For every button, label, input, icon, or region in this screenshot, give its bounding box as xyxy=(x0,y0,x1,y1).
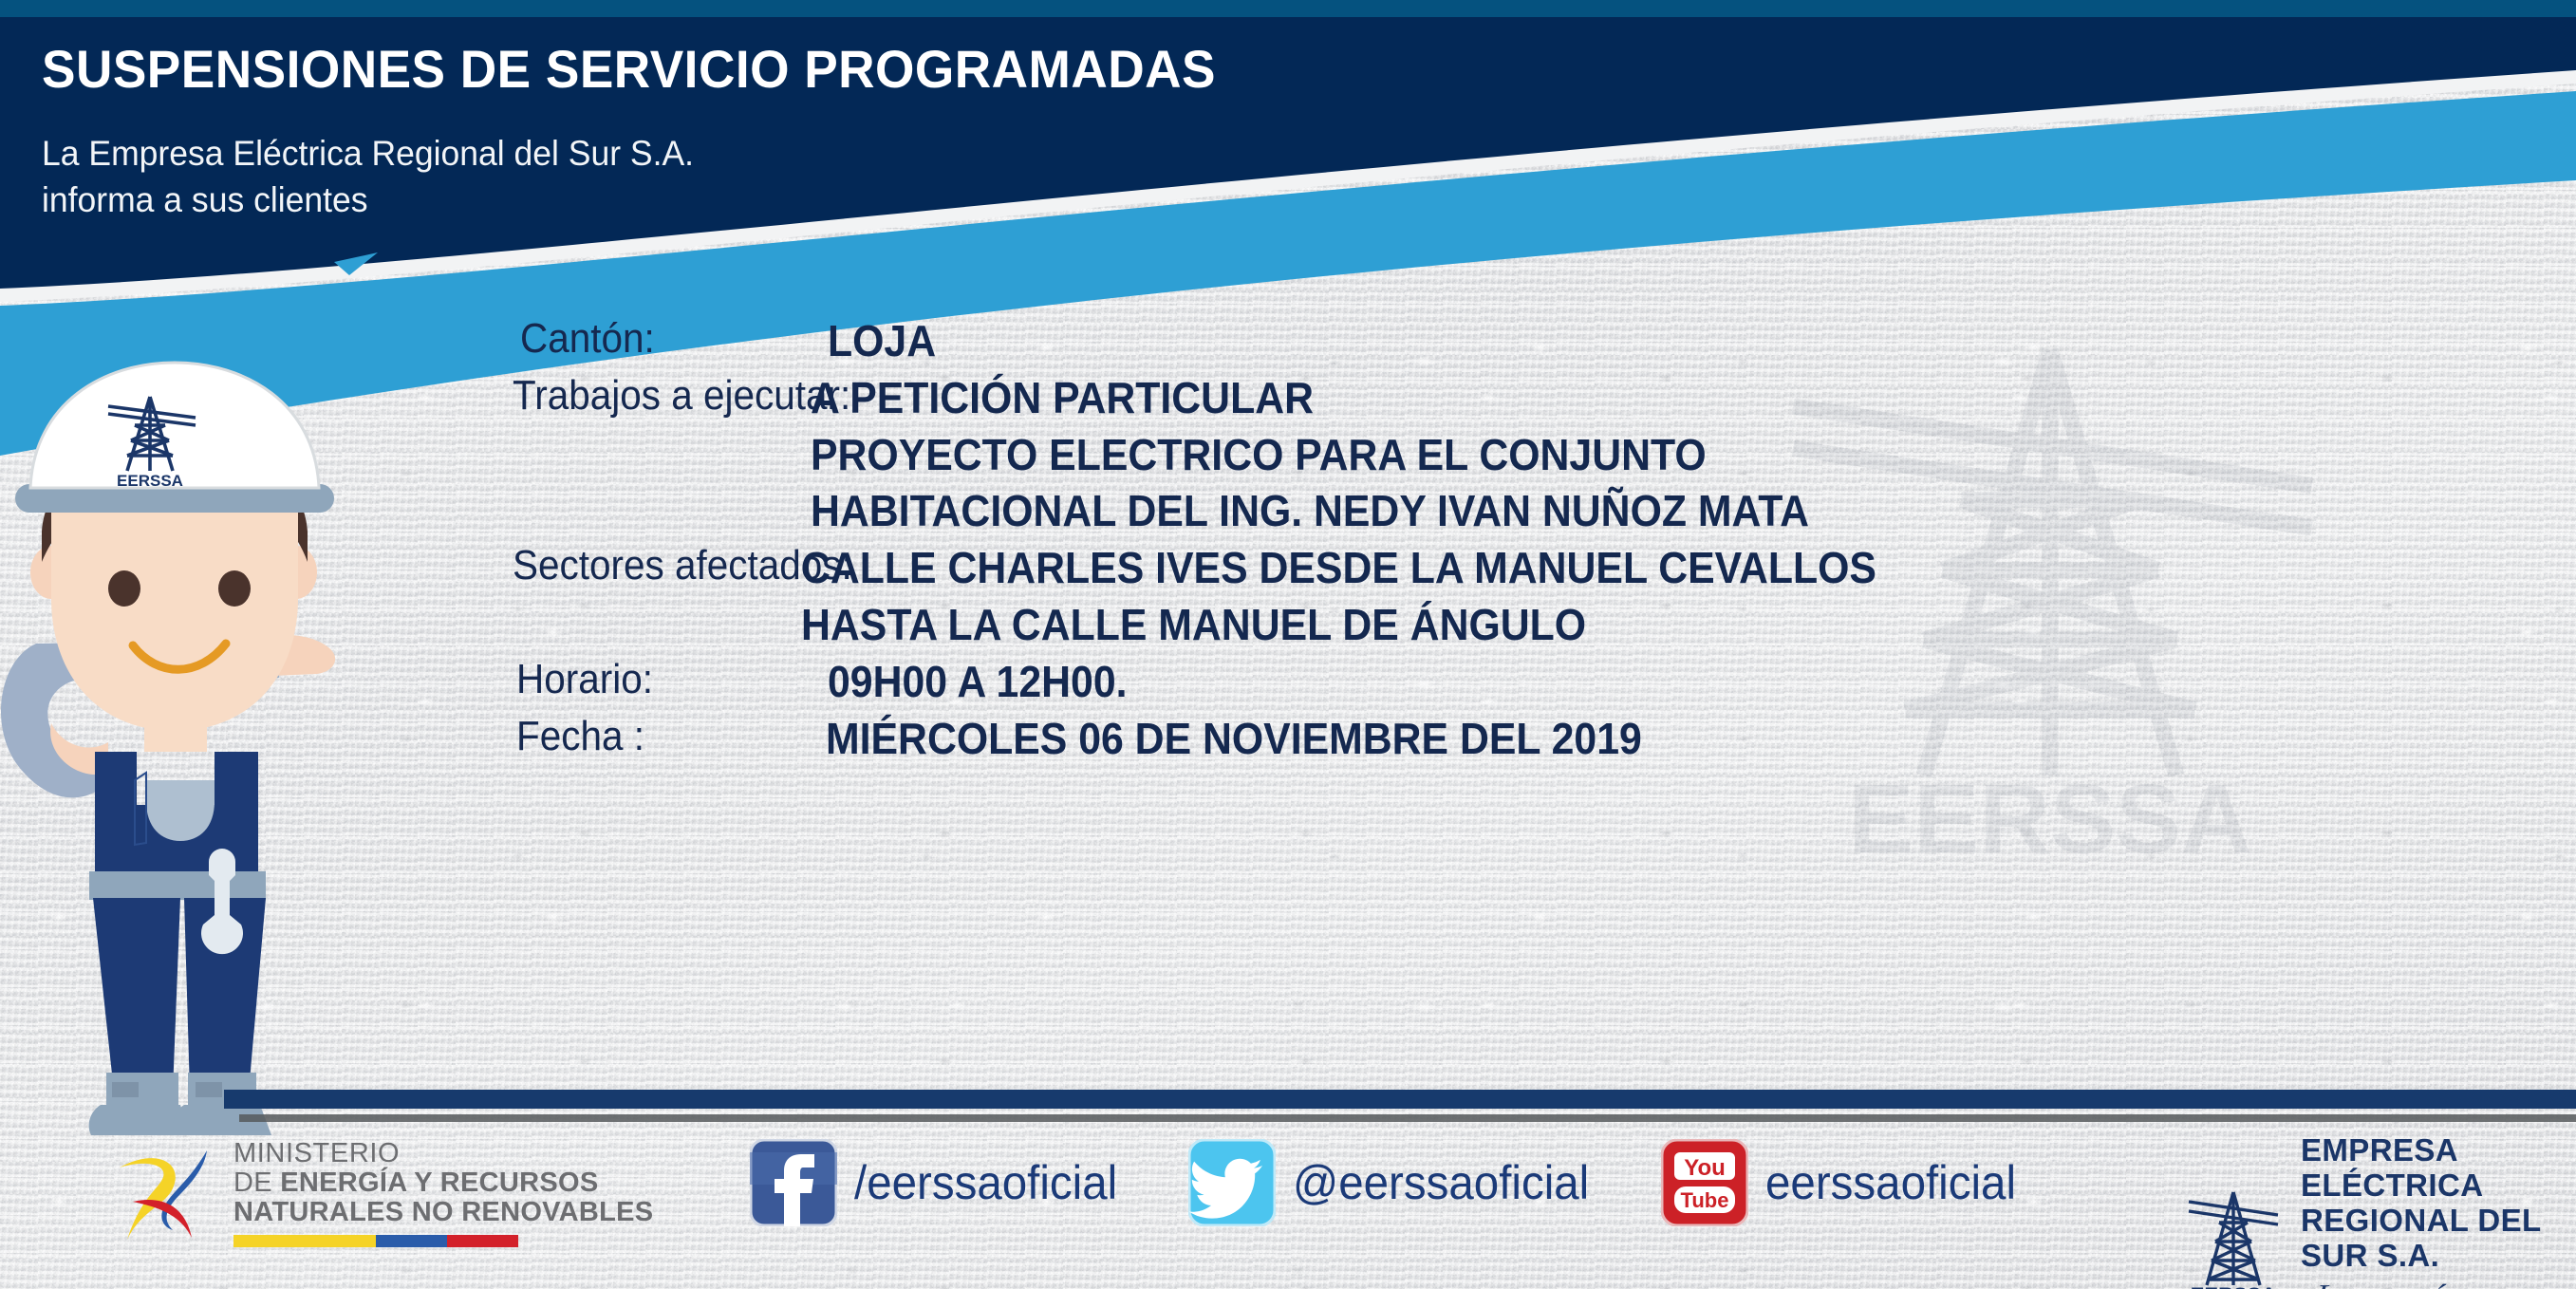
social-links: /eerssaoficial @eerssaoficial You xyxy=(750,1139,2086,1226)
service-suspension-poster: EERSSA SUSPENSIONES DE SERVICIO PROGRAMA… xyxy=(0,0,2576,1289)
label-fecha: Fecha : xyxy=(516,711,752,763)
svg-text:Tube: Tube xyxy=(1681,1188,1729,1212)
eerssa-logo-block: EERSSA EMPRESA ELÉCTRICA REGIONAL DEL SU… xyxy=(2183,1133,2576,1289)
footer-divider xyxy=(224,1082,2576,1122)
row-sectores: Sectores afectados: CALLE CHARLES IVES D… xyxy=(513,540,2544,654)
value-horario: 09H00 A 12H00. xyxy=(828,654,1128,711)
ministerio-text: MINISTERIO DE ENERGÍA Y RECURSOS NATURAL… xyxy=(233,1139,653,1246)
eerssa-line-2: REGIONAL DEL SUR S.A. xyxy=(2301,1204,2576,1274)
trabajos-line-2: PROYECTO ELECTRICO PARA EL CONJUNTO xyxy=(811,427,1809,484)
ministerio-line-1: MINISTERIO xyxy=(233,1139,653,1168)
divider-shadow xyxy=(239,1114,2576,1122)
eerssa-slogan: ¡La energía somos todos! xyxy=(2297,1278,2576,1289)
row-horario: Horario: 09H00 A 12H00. xyxy=(513,654,2544,711)
page-title: SUSPENSIONES DE SERVICIO PROGRAMADAS xyxy=(42,38,1216,100)
page-subtitle: La Empresa Eléctrica Regional del Sur S.… xyxy=(42,131,694,224)
twitter-handle[interactable]: @eerssaoficial xyxy=(1293,1155,1589,1210)
info-table: Cantón: LOJA Trabajos a ejecutar: A PETI… xyxy=(513,313,2544,767)
label-canton: Cantón: xyxy=(520,313,756,365)
footer: MINISTERIO DE ENERGÍA Y RECURSOS NATURAL… xyxy=(0,1126,2576,1289)
youtube-handle[interactable]: eerssaoficial xyxy=(1765,1155,2016,1210)
social-item-twitter[interactable]: @eerssaoficial xyxy=(1188,1139,1605,1226)
svg-text:EERSSA: EERSSA xyxy=(1848,763,2251,873)
ecuador-flag-bar xyxy=(233,1235,518,1247)
trabajos-line-1: A PETICIÓN PARTICULAR xyxy=(811,370,1809,427)
eerssa-tower-icon: EERSSA xyxy=(2183,1179,2284,1289)
label-sectores: Sectores afectados: xyxy=(513,540,748,592)
ministerio-line-2-light: DE xyxy=(233,1168,280,1198)
divider-bar xyxy=(224,1090,2576,1109)
worker-mascot-illustration: EERSSA xyxy=(0,359,402,1147)
subtitle-line-2: informa a sus clientes xyxy=(42,177,694,224)
eerssa-line-1: EMPRESA ELÉCTRICA xyxy=(2301,1133,2576,1204)
ecuador-ministry-icon xyxy=(112,1135,218,1251)
value-canton: LOJA xyxy=(828,313,936,370)
ministerio-line-2: DE ENERGÍA Y RECURSOS xyxy=(233,1168,653,1198)
facebook-handle[interactable]: /eerssaoficial xyxy=(854,1155,1117,1210)
row-fecha: Fecha : MIÉRCOLES 06 DE NOVIEMBRE DEL 20… xyxy=(513,711,2544,768)
ministerio-logo-block: MINISTERIO DE ENERGÍA Y RECURSOS NATURAL… xyxy=(112,1135,653,1251)
svg-text:You: You xyxy=(1685,1155,1727,1181)
facebook-icon[interactable] xyxy=(750,1139,837,1226)
helmet-label: EERSSA xyxy=(117,472,183,490)
subtitle-line-1: La Empresa Eléctrica Regional del Sur S.… xyxy=(42,131,694,177)
ministerio-line-3: NATURALES NO RENOVABLES xyxy=(233,1198,653,1227)
value-sectores: CALLE CHARLES IVES DESDE LA MANUEL CEVAL… xyxy=(801,540,1876,654)
trabajos-line-3: HABITACIONAL DEL ING. NEDY IVAN NUÑOZ MA… xyxy=(811,483,1809,540)
row-trabajos: Trabajos a ejecutar: A PETICIÓN PARTICUL… xyxy=(513,370,2544,540)
row-canton: Cantón: LOJA xyxy=(513,313,2544,370)
twitter-icon[interactable] xyxy=(1188,1139,1276,1226)
social-item-facebook[interactable]: /eerssaoficial xyxy=(750,1139,1131,1226)
value-fecha: MIÉRCOLES 06 DE NOVIEMBRE DEL 2019 xyxy=(826,711,1642,768)
youtube-icon[interactable]: You Tube xyxy=(1661,1139,1748,1226)
sectores-line-1: CALLE CHARLES IVES DESDE LA MANUEL CEVAL… xyxy=(801,540,1876,597)
value-trabajos: A PETICIÓN PARTICULAR PROYECTO ELECTRICO… xyxy=(811,370,1809,540)
eerssa-mark-label: EERSSA xyxy=(2191,1283,2277,1289)
label-trabajos: Trabajos a ejecutar: xyxy=(513,370,748,422)
sectores-line-2: HASTA LA CALLE MANUEL DE ÁNGULO xyxy=(801,597,1876,654)
ministerio-line-2-bold: ENERGÍA Y RECURSOS xyxy=(280,1168,598,1198)
label-horario: Horario: xyxy=(516,654,752,706)
social-item-youtube[interactable]: You Tube eerssaoficial xyxy=(1661,1139,2029,1226)
eerssa-text: EMPRESA ELÉCTRICA REGIONAL DEL SUR S.A. … xyxy=(2301,1133,2576,1289)
